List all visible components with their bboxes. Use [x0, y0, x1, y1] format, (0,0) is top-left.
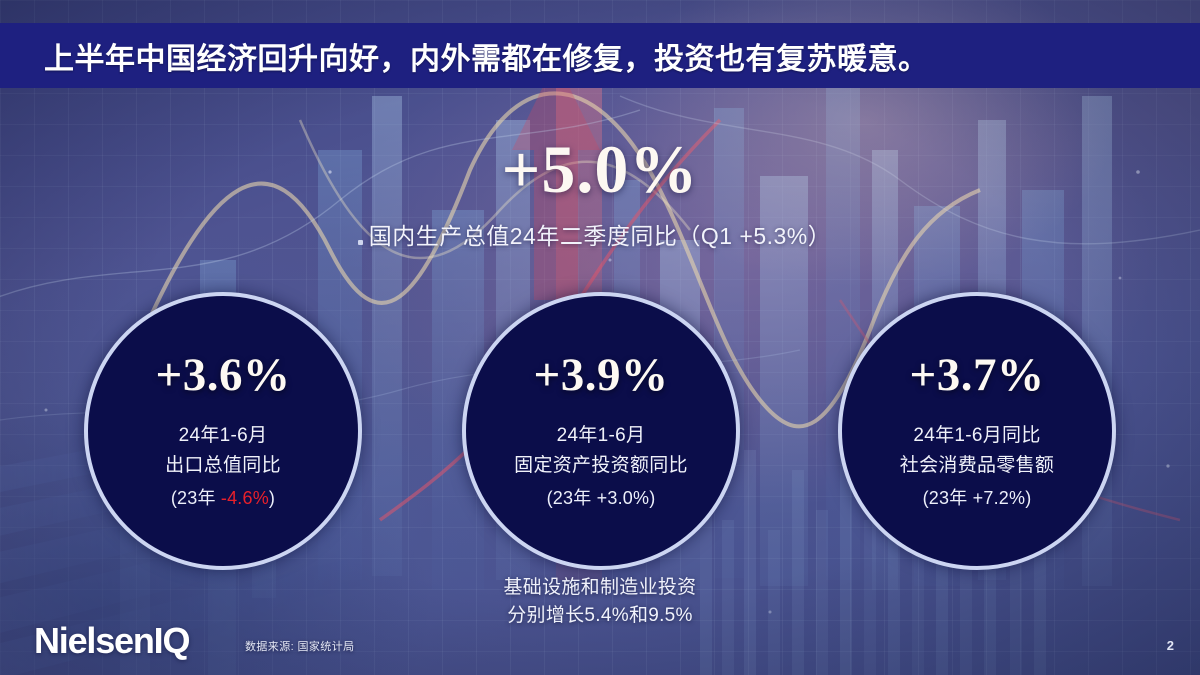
metric-line-2: 出口总值同比: [165, 451, 281, 480]
metric-sub-prefix: (23年: [171, 488, 221, 508]
metric-line-1: 24年1-6月同比: [913, 421, 1040, 450]
metric-value: +3.7%: [909, 352, 1044, 399]
metric-sub-suffix: ): [1025, 488, 1031, 508]
metric-sub: (23年 -4.6%): [171, 484, 275, 510]
hero-stat: +5.0% 国内生产总值24年二季度同比（Q1 +5.3%）: [0, 135, 1200, 251]
metric-sub: (23年 +7.2%): [923, 484, 1032, 510]
slide: 上半年中国经济回升向好，内外需都在修复，投资也有复苏暖意。 +5.0% 国内生产…: [0, 0, 1200, 675]
metric-line-2: 社会消费品零售额: [900, 451, 1054, 480]
bullet-marker: [358, 240, 363, 245]
metric-value: +3.9%: [533, 352, 668, 399]
metric-circle-retail: +3.7% 24年1-6月同比 社会消费品零售额 (23年 +7.2%): [838, 292, 1116, 570]
metric-line-1: 24年1-6月: [179, 421, 268, 450]
metric-sub: (23年 +3.0%): [547, 484, 656, 510]
title-bar: 上半年中国经济回升向好，内外需都在修复，投资也有复苏暖意。: [0, 23, 1200, 88]
mid-note-line-1: 基础设施和制造业投资: [430, 574, 770, 602]
metric-circle-export: +3.6% 24年1-6月 出口总值同比 (23年 -4.6%): [84, 292, 362, 570]
metric-sub-prefix: (23年: [923, 488, 973, 508]
mid-note-line-2: 分别增长5.4%和9.5%: [430, 602, 770, 630]
metric-circle-investment: +3.9% 24年1-6月 固定资产投资额同比 (23年 +3.0%): [462, 292, 740, 570]
source-note: 数据来源: 国家统计局: [245, 638, 355, 654]
page-title: 上半年中国经济回升向好，内外需都在修复，投资也有复苏暖意。: [44, 34, 929, 78]
metric-sub-suffix: ): [649, 488, 655, 508]
hero-caption: 国内生产总值24年二季度同比（Q1 +5.3%）: [0, 217, 1200, 251]
metric-sub-value: -4.6%: [221, 488, 269, 508]
metric-line-2: 固定资产投资额同比: [514, 451, 688, 480]
mid-note: 基础设施和制造业投资 分别增长5.4%和9.5%: [430, 574, 770, 629]
metric-sub-value: +3.0%: [597, 488, 650, 508]
metric-sub-suffix: ): [269, 488, 275, 508]
nielseniq-logo: NielsenIQ: [34, 620, 189, 662]
metric-value: +3.6%: [155, 352, 290, 399]
hero-value: +5.0%: [0, 135, 1200, 203]
metric-sub-value: +7.2%: [973, 488, 1026, 508]
page-number: 2: [1167, 638, 1174, 653]
metric-line-1: 24年1-6月: [557, 421, 646, 450]
metric-sub-prefix: (23年: [547, 488, 597, 508]
